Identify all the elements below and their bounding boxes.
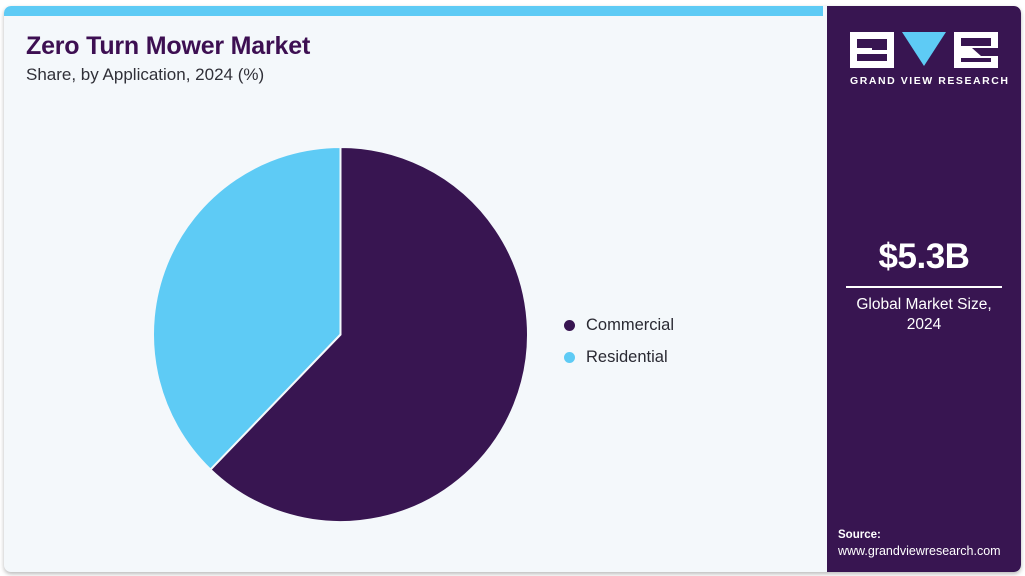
chart-legend: Commercial Residential: [564, 309, 794, 373]
logo-wordmark: GRAND VIEW RESEARCH: [850, 75, 998, 87]
page-title: Zero Turn Mower Market: [26, 32, 726, 60]
source-label: Source:: [838, 528, 1021, 544]
stat-value: $5.3B: [827, 238, 1021, 277]
legend-label-commercial: Commercial: [586, 316, 674, 335]
logo-marks: [850, 32, 998, 68]
source-block: Source: www.grandviewresearch.com: [838, 528, 1021, 560]
pie-chart: [153, 147, 528, 522]
logo-letter-v-icon: [902, 32, 946, 66]
source-url[interactable]: www.grandviewresearch.com: [838, 543, 1021, 560]
header: Zero Turn Mower Market Share, by Applica…: [26, 32, 726, 85]
legend-swatch-commercial: [564, 320, 575, 331]
legend-swatch-residential: [564, 352, 575, 363]
legend-item-residential[interactable]: Residential: [564, 341, 794, 373]
stat-divider: [846, 286, 1002, 288]
side-panel: GRAND VIEW RESEARCH $5.3B Global Market …: [827, 6, 1021, 572]
page-subtitle: Share, by Application, 2024 (%): [26, 65, 726, 85]
legend-label-residential: Residential: [586, 348, 668, 367]
pie-chart-svg: [153, 147, 528, 522]
stat-caption: Global Market Size, 2024: [827, 295, 1021, 336]
logo-letter-g-icon: [850, 32, 894, 68]
gvr-logo-icon: [850, 32, 998, 68]
stat-block: $5.3B Global Market Size, 2024: [827, 238, 1021, 335]
infographic-card: Zero Turn Mower Market Share, by Applica…: [4, 6, 1021, 572]
logo-letter-r-icon: [954, 32, 998, 68]
legend-item-commercial[interactable]: Commercial: [564, 309, 794, 341]
top-accent-bar: [4, 6, 823, 16]
brand-logo: GRAND VIEW RESEARCH: [850, 32, 998, 87]
